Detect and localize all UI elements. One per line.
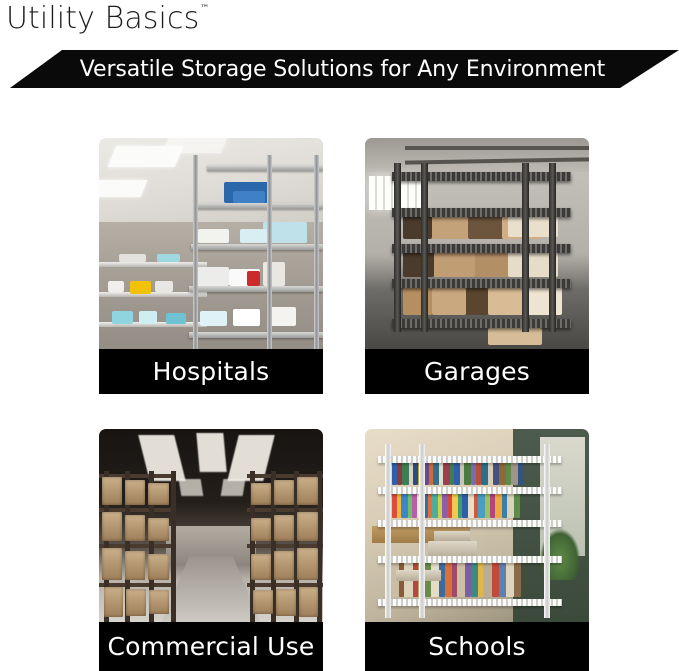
pallet-load	[104, 587, 124, 617]
commercial-use-photo	[99, 429, 323, 622]
wire-shelf	[378, 487, 562, 494]
card-schools[interactable]: Schools	[365, 429, 589, 671]
pallet-load	[125, 515, 145, 541]
shelf-post	[544, 444, 550, 618]
pallet-load	[126, 589, 146, 616]
supply-bin	[108, 281, 124, 292]
supply-bin	[247, 271, 260, 286]
card-garages[interactable]: Garages	[365, 138, 589, 398]
back-shelf	[99, 292, 207, 297]
headline-banner: Versatile Storage Solutions for Any Envi…	[0, 50, 679, 88]
ceiling-light-panel	[99, 180, 147, 197]
commercial-use-label: Commercial Use	[99, 622, 323, 671]
shelf-post	[314, 155, 319, 349]
wire-shelf	[392, 208, 571, 217]
cardboard-box	[488, 328, 542, 345]
skylight	[221, 479, 246, 496]
rack-beam	[99, 508, 175, 512]
schools-photo	[365, 429, 589, 622]
pallet-load	[125, 480, 145, 504]
pallet-load	[102, 477, 122, 504]
brand-name: Utility Basics	[6, 2, 199, 36]
pallet-load	[125, 551, 145, 580]
rack-beam	[247, 544, 323, 548]
hospitals-scene	[99, 138, 323, 349]
pallet-load	[297, 477, 318, 504]
cardboard-box	[403, 252, 434, 277]
supply-bin	[193, 267, 229, 286]
cardboard-box	[432, 214, 468, 239]
wire-shelf	[207, 165, 323, 171]
ceiling-light-panel	[163, 138, 227, 153]
wire-shelf	[378, 599, 562, 606]
cardboard-box	[475, 252, 511, 277]
skylight	[196, 433, 226, 472]
wire-shelf	[195, 203, 323, 209]
rack-beam	[99, 583, 175, 587]
rack-beam	[247, 583, 323, 587]
shelf-post	[419, 444, 425, 618]
card-hospitals[interactable]: Hospitals	[99, 138, 323, 398]
schools-scene	[365, 429, 589, 622]
pallet-load	[251, 483, 271, 504]
category-grid: Hospitals	[0, 131, 679, 671]
cardboard-box	[468, 216, 504, 239]
pallet-load	[274, 480, 294, 504]
wire-shelf	[189, 332, 323, 338]
pallet-load	[274, 551, 294, 580]
warehouse-scene	[99, 429, 323, 622]
pallet-load	[299, 587, 319, 617]
pallet-load	[251, 518, 271, 541]
pallet-load	[148, 518, 169, 541]
pallet-load	[148, 483, 169, 504]
card-commercial-use[interactable]: Commercial Use	[99, 429, 323, 671]
pallet-load	[274, 515, 294, 541]
pallet-rack-right	[247, 471, 323, 622]
cardboard-box	[466, 288, 488, 315]
wire-shelf	[378, 456, 562, 463]
supply-bin	[112, 311, 132, 324]
shelf-post	[421, 163, 428, 332]
garages-label: Garages	[365, 349, 589, 394]
hospitals-label: Hospitals	[99, 349, 323, 394]
supply-bin	[155, 281, 173, 292]
wire-shelf	[378, 520, 562, 527]
supply-bin	[157, 254, 179, 262]
supply-bin	[233, 191, 264, 204]
wire-shelf	[189, 286, 323, 292]
cardboard-box	[432, 288, 466, 315]
supply-bin	[269, 307, 296, 326]
supply-bin	[139, 311, 157, 324]
wire-shelf	[392, 172, 571, 181]
supply-bin	[198, 229, 229, 244]
garages-scene	[365, 138, 589, 349]
banner-headline: Versatile Storage Solutions for Any Envi…	[0, 50, 679, 88]
brand-logo: Utility Basics ™	[6, 2, 209, 40]
pallet-load	[251, 554, 271, 580]
cardboard-box	[434, 252, 474, 277]
shelf-post	[385, 444, 391, 618]
supply-bin	[130, 281, 150, 294]
wire-shelf	[392, 244, 571, 253]
rack-upright	[171, 471, 176, 622]
supply-bin	[263, 262, 285, 285]
pallet-load	[253, 590, 273, 614]
rack-beam	[99, 544, 175, 548]
book-row	[392, 460, 531, 485]
wire-shelf	[191, 244, 323, 250]
book-stack	[434, 531, 470, 541]
shelf-post	[549, 163, 556, 332]
supply-bin	[200, 311, 227, 326]
shelf-post	[394, 163, 401, 332]
pallet-load	[297, 548, 318, 580]
book-row	[392, 493, 526, 518]
shelf-post	[522, 163, 529, 332]
garages-photo	[365, 138, 589, 349]
ceiling-beam	[405, 146, 589, 150]
schools-label: Schools	[365, 622, 589, 671]
rack-beam	[247, 508, 323, 512]
wire-shelf	[392, 319, 571, 328]
pallet-load	[102, 548, 122, 580]
supply-bin	[240, 229, 267, 244]
pallet-load	[276, 589, 296, 616]
shelf-post	[193, 155, 198, 349]
cardboard-box	[488, 288, 526, 315]
pallet-rack-left	[99, 471, 175, 622]
supply-bin	[233, 309, 260, 326]
wire-shelf	[378, 556, 562, 563]
trademark-symbol: ™	[200, 5, 209, 14]
back-shelf	[99, 262, 207, 267]
pallet-load	[297, 512, 318, 541]
supply-bin	[166, 313, 186, 324]
wire-shelf	[392, 279, 571, 288]
shelf-post	[267, 155, 272, 349]
pallet-load	[149, 590, 169, 614]
pallet-load	[148, 554, 169, 580]
supply-bin	[119, 254, 146, 262]
hospitals-photo	[99, 138, 323, 349]
skylight	[178, 479, 203, 496]
pallet-load	[102, 512, 122, 541]
